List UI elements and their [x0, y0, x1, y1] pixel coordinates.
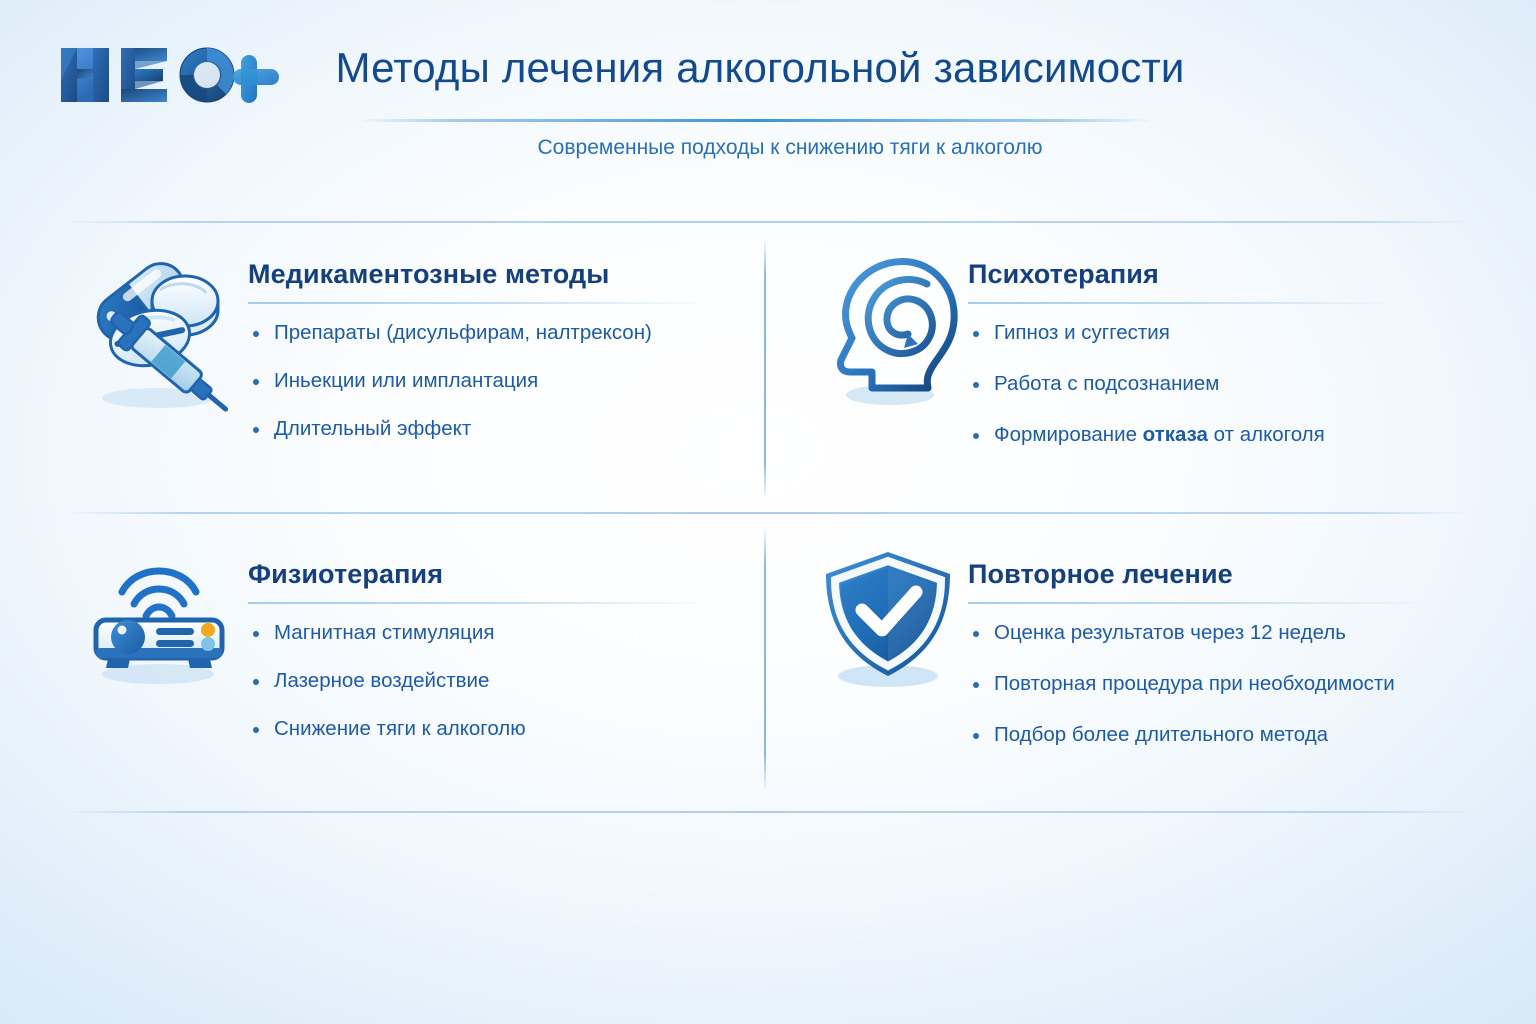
page-title: Методы лечения алкогольной зависимости	[310, 44, 1210, 92]
card-bullet-list: Препараты (дисульфирам, налтрексон) Инье…	[248, 320, 740, 443]
card-title: Повторное лечение	[968, 560, 1472, 590]
divider-top	[72, 221, 1464, 223]
list-item: Оценка результатов через 12 недель	[968, 620, 1472, 646]
card-body: Физиотерапия Магнитная стимуляция Лазерн…	[248, 542, 740, 742]
card-body: Повторное лечение Оценка результатов чер…	[968, 542, 1472, 773]
list-item: Гипноз и суггестия	[968, 320, 1472, 346]
infographic-canvas: Методы лечения алкогольной зависимости С…	[0, 0, 1536, 1024]
list-item: Снижение тяги к алкоголю	[248, 716, 740, 742]
card-title-underline	[248, 602, 698, 604]
header: Методы лечения алкогольной зависимости С…	[0, 0, 1536, 200]
card-psychotherapy: Психотерапия Гипноз и суггестия Работа с…	[812, 248, 1472, 473]
list-item: Препараты (дисульфирам, налтрексон)	[248, 320, 740, 346]
card-medication: Медикаментозные методы Препараты (дисуль…	[80, 248, 740, 442]
card-bullet-list: Гипноз и суггестия Работа с подсознанием…	[968, 320, 1472, 449]
page-subtitle: Современные подходы к снижению тяги к ал…	[310, 136, 1270, 160]
list-item: Магнитная стимуляция	[248, 620, 740, 646]
card-bullet-list: Оценка результатов через 12 недель Повто…	[968, 620, 1472, 749]
card-title: Физиотерапия	[248, 560, 740, 590]
head-spiral-icon	[812, 248, 964, 418]
physio-device-icon	[80, 542, 240, 712]
neo-plus-logo	[55, 40, 285, 112]
card-title-underline	[968, 302, 1386, 304]
card-title-underline	[968, 602, 1414, 604]
card-title: Медикаментозные методы	[248, 260, 740, 290]
list-item: Формирование отказа от алкоголя	[968, 422, 1472, 448]
card-title: Психотерапия	[968, 260, 1472, 290]
divider-vertical-lower	[764, 528, 766, 790]
pills-syringe-icon	[80, 248, 240, 418]
title-underline	[358, 119, 1153, 122]
list-item: Подбор более длительного метода	[968, 722, 1472, 748]
list-item: Повторная процедура при необходимости	[968, 671, 1472, 697]
card-title-underline	[248, 302, 698, 304]
list-item: Иньекции или имплантация	[248, 368, 740, 394]
card-body: Психотерапия Гипноз и суггестия Работа с…	[968, 248, 1472, 473]
divider-bottom	[72, 811, 1464, 813]
list-item: Длительный эффект	[248, 416, 740, 442]
shield-check-icon	[812, 542, 964, 712]
divider-vertical-upper	[764, 240, 766, 498]
divider-middle	[72, 512, 1464, 514]
card-bullet-list: Магнитная стимуляция Лазерное воздействи…	[248, 620, 740, 743]
card-physiotherapy: Физиотерапия Магнитная стимуляция Лазерн…	[80, 542, 740, 742]
card-repeat-treatment: Повторное лечение Оценка результатов чер…	[812, 542, 1472, 773]
list-item: Лазерное воздействие	[248, 668, 740, 694]
list-item: Работа с подсознанием	[968, 371, 1472, 397]
card-body: Медикаментозные методы Препараты (дисуль…	[248, 248, 740, 442]
